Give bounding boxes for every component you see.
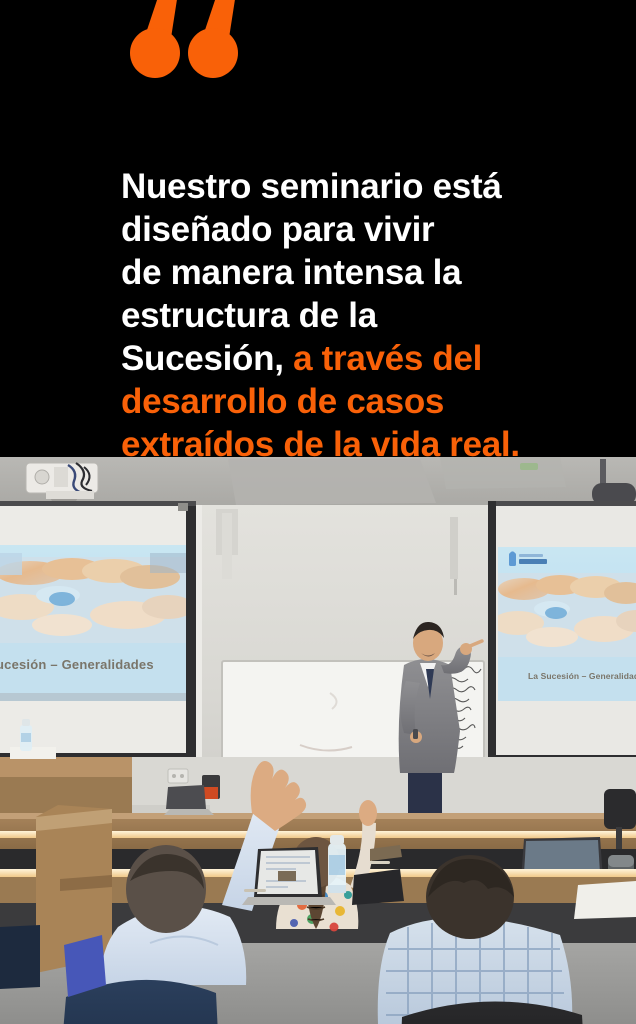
water-bottle-front [328,835,346,893]
attendee-woman-hand [359,800,377,826]
pen [370,861,390,864]
right-projection-screen: La Sucesión – Generalidades [492,501,636,763]
wall-strip [450,517,458,579]
quote-line: de manera intensa la [121,251,591,294]
classroom-photo-illustration: ucesión – Generalidades [0,457,636,1024]
wall-socket [168,769,188,783]
quote-line: Nuestro seminario está [121,165,591,208]
ceiling-tile [228,459,436,505]
quote-card: Nuestro seminario está diseñado para viv… [0,0,636,1024]
left-projection-screen: ucesión – Generalidades [0,501,202,761]
quote-line-white: Sucesión, [121,339,293,378]
paper-sheets [574,881,636,919]
quote-text: Nuestro seminario está diseñado para viv… [121,165,591,457]
pen [244,889,266,892]
presenter-clicker [413,729,418,739]
screen-edge [186,501,196,759]
right-slide-title: La Sucesión – Generalidades [528,671,636,681]
quote-line: diseñado para vivir [121,208,591,251]
quote-bowl [130,28,180,78]
opening-quote-icon [130,0,246,78]
papers [10,747,56,759]
quote-line-orange: a través del [293,339,482,378]
quote-bowl [188,28,238,78]
quote-line-white: de manera intensa la [121,253,461,292]
quote-line-white: Nuestro seminario está [121,167,502,206]
seat-back-far-left [0,925,40,989]
quote-line-orange: extraídos de la vida real. [121,425,520,457]
quote-line: desarrollo de casos [121,380,591,423]
screen-bracket [178,503,188,511]
classroom-photo: ucesión – Generalidades [0,457,636,1024]
quote-line: Sucesión, a través del [121,337,591,380]
ceiling-tile [440,457,566,489]
quote-line-white: estructura de la [121,296,377,335]
ceiling-sensor-light [520,463,538,470]
quote-line: extraídos de la vida real. [121,423,591,457]
dark-notebook [352,869,404,905]
quote-line-white: diseñado para vivir [121,210,434,249]
quote-glyph-left [130,0,180,78]
quote-line: estructura de la [121,294,591,337]
quote-glyph-right [188,0,238,78]
quote-line-orange: desarrollo de casos [121,382,444,421]
quote-panel: Nuestro seminario está diseñado para viv… [0,0,636,457]
left-slide-title: ucesión – Generalidades [0,657,154,672]
